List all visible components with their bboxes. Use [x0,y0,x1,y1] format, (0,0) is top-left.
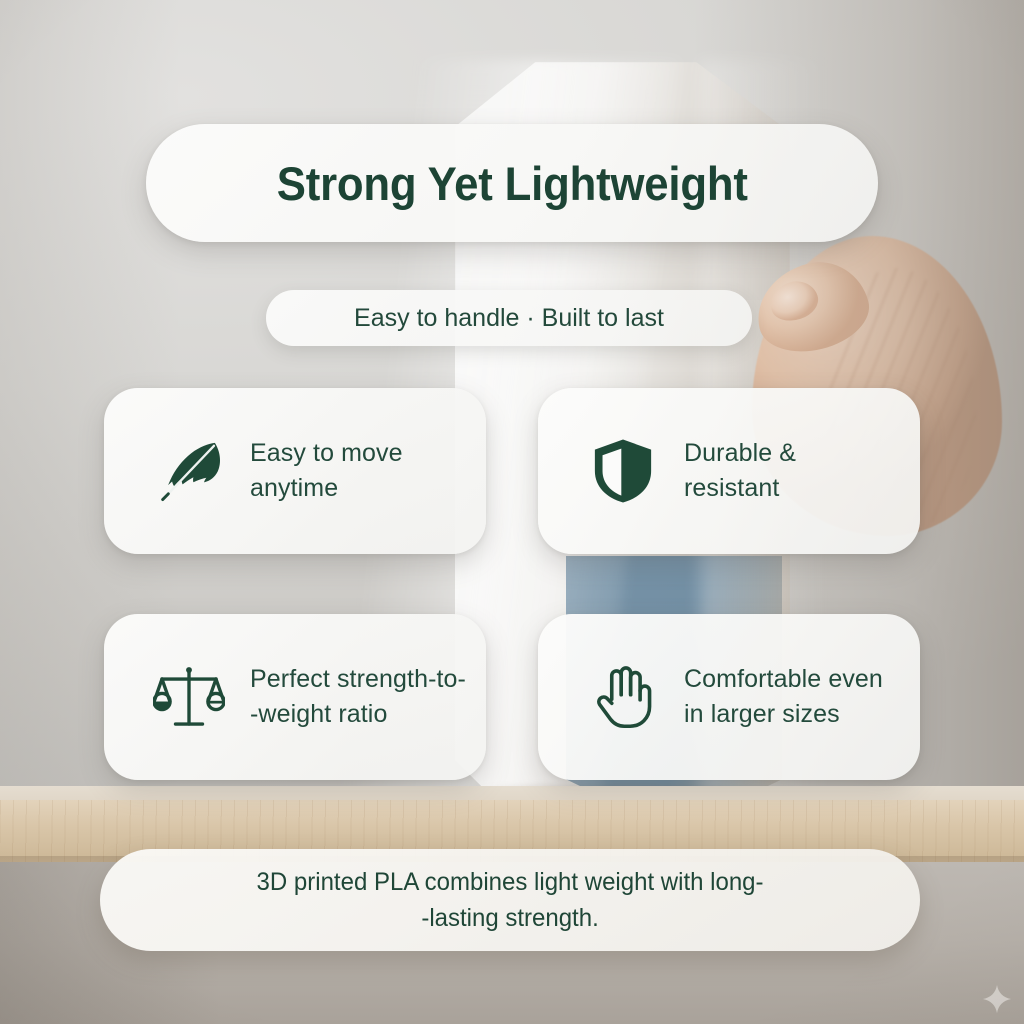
feature-card-label: Durable & resistant [684,436,796,507]
feature-card-label: Easy to move anytime [250,436,403,507]
sparkle-icon [982,984,1012,1014]
feature-card-strength-to-weight[interactable]: Perfect strength-to- -weight ratio [104,614,486,780]
hand-icon [584,658,662,736]
feature-card-durable[interactable]: Durable & resistant [538,388,920,554]
feature-card-easy-to-move[interactable]: Easy to move anytime [104,388,486,554]
feature-card-label: Comfortable even in larger sizes [684,662,883,733]
feather-icon [150,432,228,510]
footer-description: 3D printed PLA combines light weight wit… [257,864,764,937]
shield-icon [584,432,662,510]
infographic-overlay: Strong Yet Lightweight Easy to handle · … [0,0,1024,1024]
scales-icon [150,658,228,736]
feature-card-comfortable[interactable]: Comfortable even in larger sizes [538,614,920,780]
feature-card-label: Perfect strength-to- -weight ratio [250,662,466,733]
footer-banner: 3D printed PLA combines light weight wit… [100,849,920,951]
